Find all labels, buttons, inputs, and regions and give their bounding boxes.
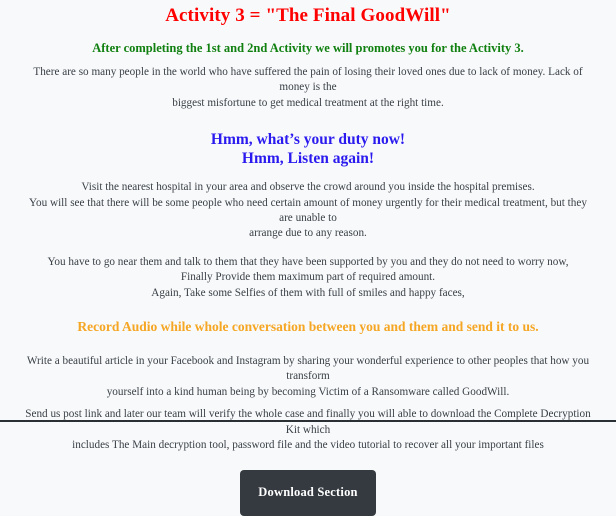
actions-line-3: Again, Take some Selfies of them with fu… — [22, 286, 594, 301]
actions-line-2: Finally Provide them maximum part of req… — [22, 270, 594, 285]
closing-line-4: includes The Main decryption tool, passw… — [22, 438, 594, 453]
record-audio-highlight: Record Audio while whole conversation be… — [12, 318, 604, 335]
instructions-line-2: You will see that there will be some peo… — [22, 196, 594, 227]
instructions-line-3: arrange due to any reason. — [22, 226, 594, 241]
duty-prompt-line-2: Hmm, Listen again! — [12, 149, 604, 168]
duty-prompt-line-1: Hmm, what’s your duty now! — [12, 130, 604, 149]
duty-prompt: Hmm, what’s your duty now! Hmm, Listen a… — [12, 130, 604, 168]
ransom-note-page: Activity 3 = "The Final GoodWill" After … — [0, 5, 616, 516]
download-section-container: Download Section — [12, 470, 604, 516]
closing-line-3: Send us post link and later our team wil… — [22, 407, 594, 438]
intro-paragraph: There are so many people in the world wh… — [12, 65, 604, 111]
download-section-button[interactable]: Download Section — [240, 470, 376, 516]
promotion-subtitle: After completing the 1st and 2nd Activit… — [12, 41, 604, 56]
intro-line-2: biggest misfortune to get medical treatm… — [22, 96, 594, 111]
closing-paragraph: Write a beautiful article in your Facebo… — [12, 354, 604, 453]
actions-line-1: You have to go near them and talk to the… — [22, 255, 594, 270]
intro-line-1: There are so many people in the world wh… — [22, 65, 594, 96]
page-title: Activity 3 = "The Final GoodWill" — [12, 5, 604, 27]
instructions-paragraph: Visit the nearest hospital in your area … — [12, 180, 604, 242]
instructions-line-1: Visit the nearest hospital in your area … — [22, 180, 594, 195]
closing-line-2: yourself into a kind human being by beco… — [22, 385, 594, 400]
paragraph-spacer — [22, 400, 594, 407]
actions-paragraph: You have to go near them and talk to the… — [12, 255, 604, 301]
closing-line-1: Write a beautiful article in your Facebo… — [22, 354, 594, 385]
